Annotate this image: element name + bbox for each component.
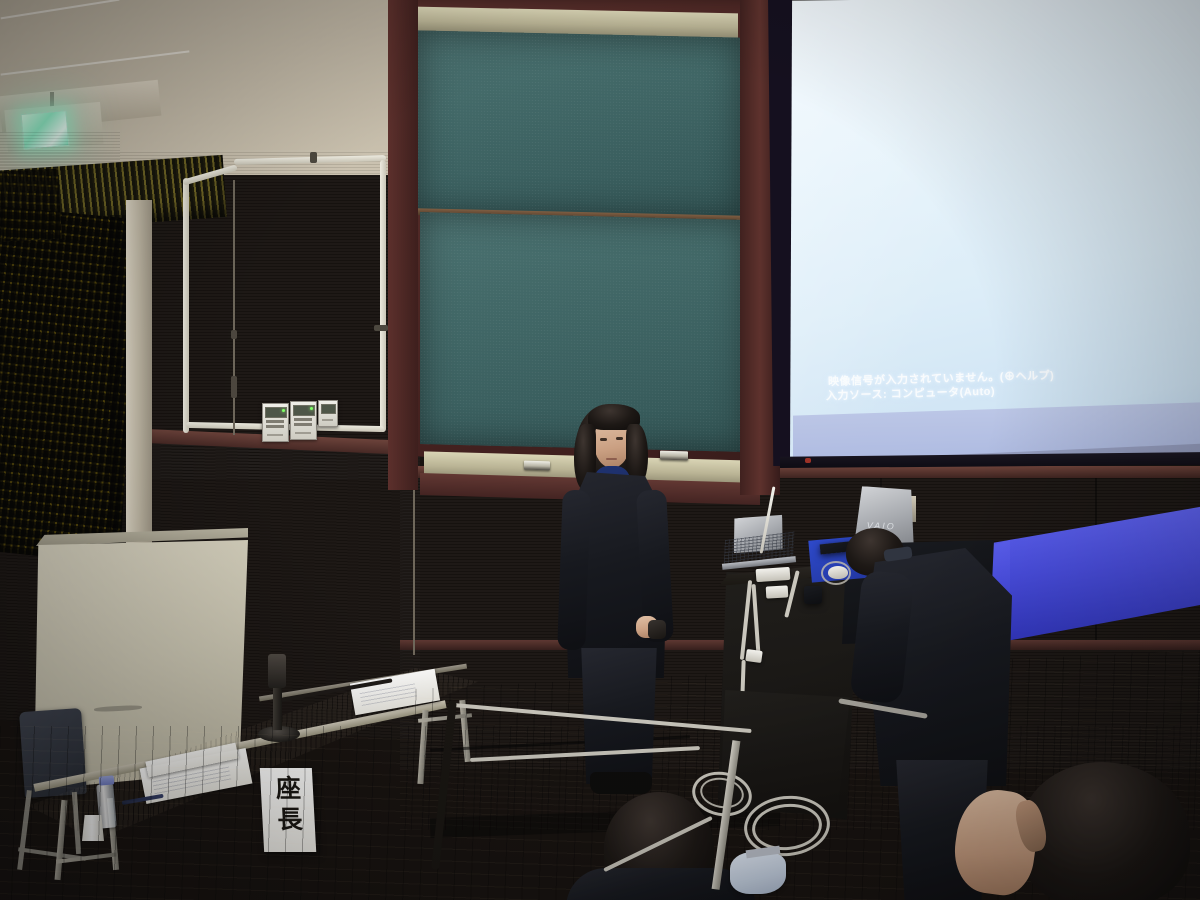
controller-1-label [267,434,283,436]
ac-controller-1[interactable] [262,403,289,442]
power-plug [745,649,763,663]
microphone-post [273,684,282,730]
ac-controller-2[interactable] [290,401,317,440]
presenter-mouth [606,458,617,460]
presenter-arm-left [557,490,591,651]
power-adapter[interactable] [766,585,789,598]
audience-member-left-shoulders [566,868,756,900]
conduit-clamp-right [374,325,388,331]
controller-3-label [322,419,333,421]
mouse-cable-coil [821,561,851,585]
controller-2-led [310,407,313,410]
power-strip[interactable] [756,567,791,582]
chalkboard-surface-lower [420,212,746,452]
conduit-clamp-top [310,152,317,163]
wire-clamp-2 [231,376,237,398]
chalkboard-left-frame [388,0,418,490]
eraser-left[interactable] [524,461,550,471]
wire-clamp-1 [231,330,237,339]
controller-1-led [282,409,285,412]
controller-2-buttons[interactable] [294,418,312,421]
curtain-fold [0,168,62,241]
eraser-right[interactable] [660,451,688,461]
lecture-hall-photo: 映像信号が入力されていません。(⊕ヘルプ) 入力ソース: コンピュータ(Auto… [0,0,1200,900]
controller-2-label [295,432,311,434]
ac-controller-3[interactable] [318,400,338,427]
controller-1-buttons-2[interactable] [266,425,284,428]
screen-bracket-dot [805,458,811,463]
microphone-head[interactable] [268,654,286,688]
controller-2-buttons-2[interactable] [294,423,312,426]
cable-clip [804,586,822,604]
presenter-remote[interactable] [648,620,666,639]
controller-1-buttons[interactable] [266,420,284,423]
conduit-left-vertical [183,178,189,433]
wall-column [126,200,152,580]
presenter-eye-left [600,438,607,441]
blue-cloth [730,852,786,894]
presenter-eye-right [616,437,623,440]
controller-3-display [321,404,336,414]
conduit-right-vertical [380,160,386,432]
presenter-shoes [590,772,652,794]
chalkboard-surface-upper [417,30,741,219]
